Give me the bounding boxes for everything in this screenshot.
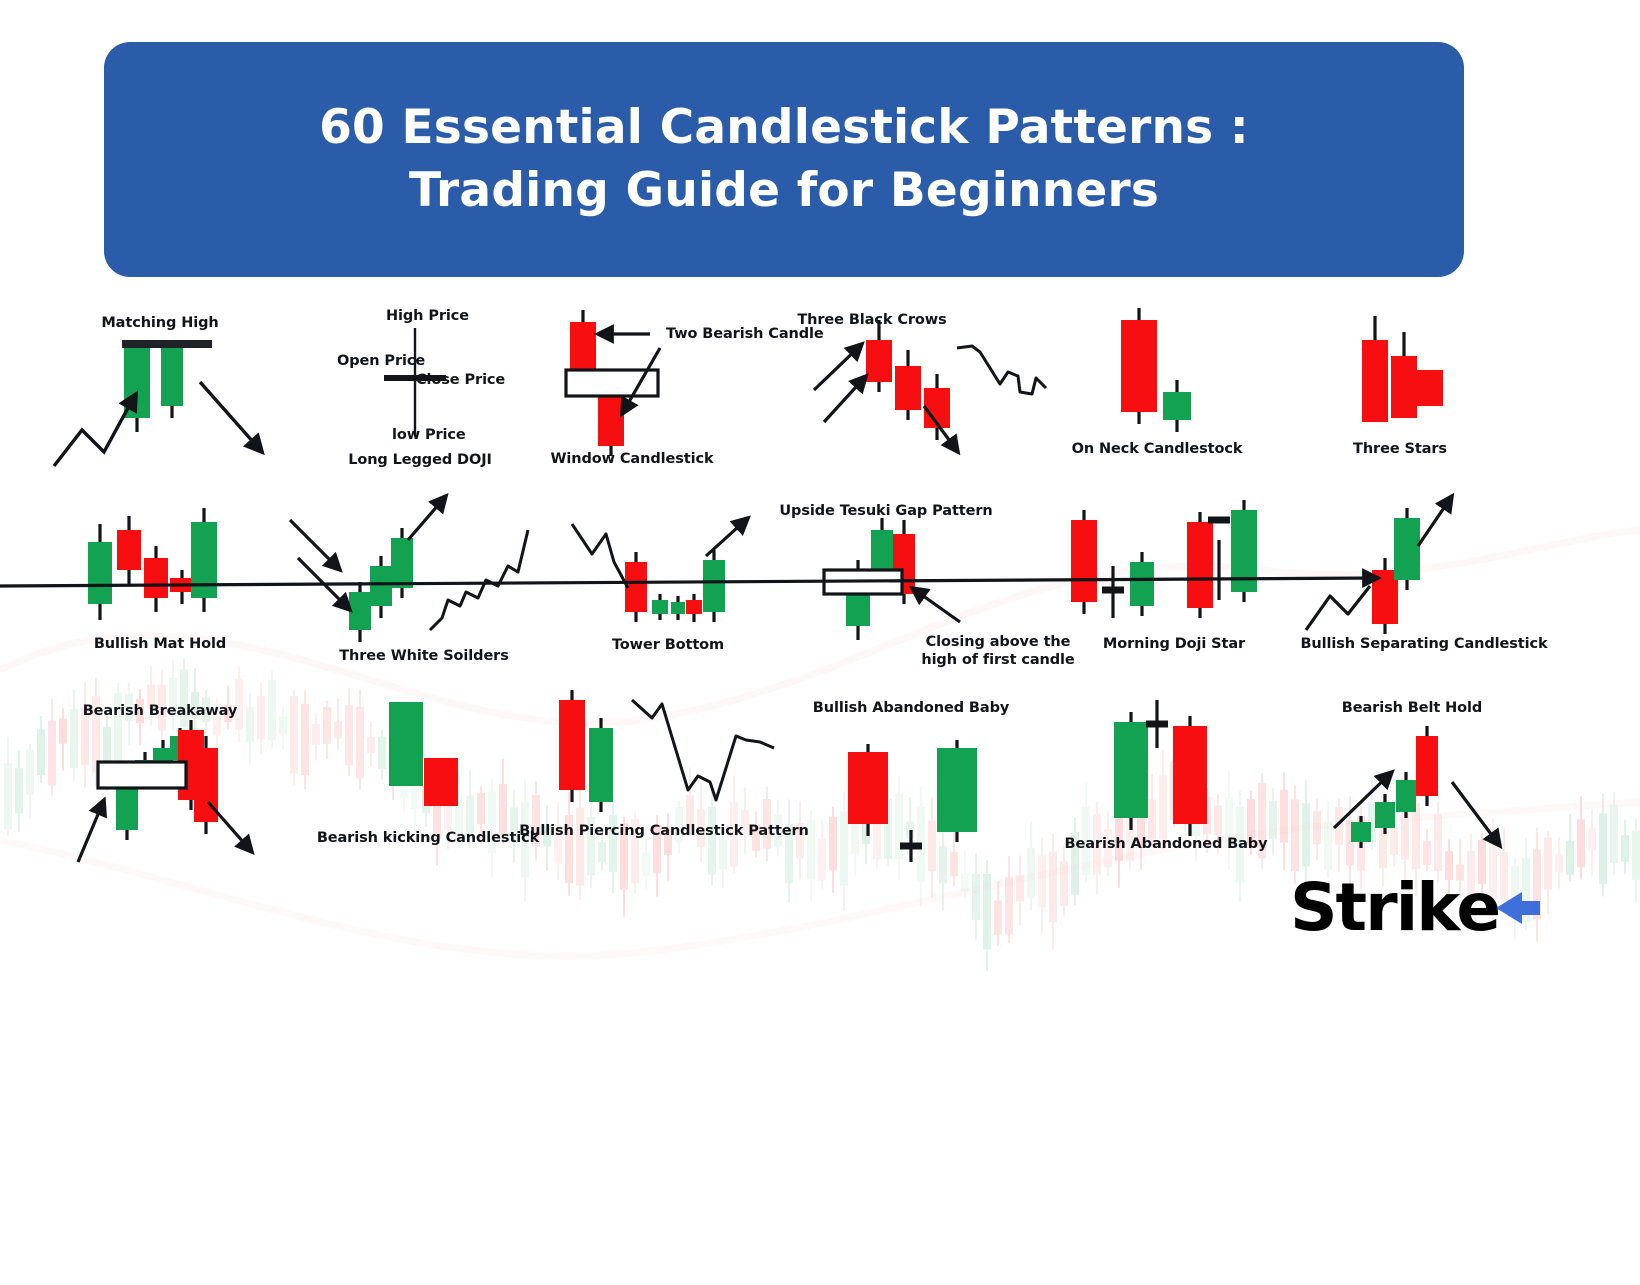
- closing-above-annotation: Closing above the high of first candle: [918, 633, 1078, 669]
- pattern-label-morning-doji-star: Morning Doji Star: [1103, 636, 1245, 652]
- closing-above-line-2: high of first candle: [921, 652, 1074, 668]
- candle-morning-3: [1130, 552, 1154, 616]
- candle-kicking-1: [389, 702, 423, 786]
- pattern-label-matching-high: Matching High: [101, 315, 218, 331]
- candle-kicking-2: [424, 758, 458, 806]
- candle-tower-2: [652, 594, 668, 620]
- candle-belthold-4: [1416, 726, 1438, 806]
- pattern-label-long-legged-doji: Long Legged DOJI: [348, 452, 492, 468]
- candle-crow-1: [866, 320, 892, 392]
- candle-crow-2: [895, 350, 921, 420]
- candle-bearbaby-doji: [1146, 700, 1168, 748]
- pattern-label-bearish-abandoned-baby: Bearish Abandoned Baby: [1065, 836, 1268, 852]
- bullish-piercing-graphic: [632, 700, 774, 800]
- bearish-breakaway-graphic: [78, 762, 252, 862]
- candle-window-1: [570, 310, 596, 378]
- pattern-label-bullish-mat-hold: Bullish Mat Hold: [94, 636, 226, 652]
- candle-bullsep-2: [1394, 508, 1420, 590]
- doji-open-price-label: Open Price: [337, 353, 425, 369]
- candle-three-stars-2: [1391, 332, 1417, 418]
- candle-soldier-1: [349, 582, 371, 642]
- strike-logo-text: Strike: [1290, 869, 1499, 946]
- candle-belthold-1: [1351, 816, 1371, 848]
- doji-high-price-label: High Price: [386, 308, 469, 324]
- candle-three-stars-1: [1362, 316, 1388, 422]
- candle-onneck-2: [1163, 380, 1191, 432]
- upside-tesuki-gap-graphic: [824, 570, 960, 622]
- pattern-label-three-white-soilders: Three White Soilders: [339, 648, 509, 664]
- pattern-label-bearish-belt-hold: Bearish Belt Hold: [1342, 700, 1482, 716]
- pattern-label-three-stars: Three Stars: [1353, 441, 1447, 457]
- candle-tower-5: [703, 550, 725, 622]
- candle-mathold-1: [88, 524, 112, 620]
- candle-morning-doji: [1102, 566, 1124, 618]
- candle-breakaway-6: [194, 736, 218, 834]
- pattern-label-on-neck-candlestock: On Neck Candlestock: [1072, 441, 1243, 457]
- doji-close-price-label: Close Price: [416, 372, 505, 388]
- matching-high-graphic: [54, 340, 262, 466]
- candle-tower-3: [671, 596, 685, 620]
- candle-separating-1: [1187, 512, 1213, 618]
- pattern-label-bullish-separating-candlestick: Bullish Separating Candlestick: [1300, 636, 1547, 652]
- closing-above-line-1: Closing above the: [926, 634, 1071, 650]
- doji-low-price-label: low Price: [392, 427, 466, 443]
- candle-bullbaby-1: [848, 744, 888, 836]
- candle-piercing-1: [559, 690, 585, 802]
- candle-mathold-3: [144, 546, 168, 612]
- pattern-label-tower-bottom: Tower Bottom: [612, 637, 724, 653]
- candle-bearbaby-1: [1114, 712, 1148, 830]
- candle-matching-high-1: [124, 346, 150, 432]
- candle-crow-3: [924, 374, 950, 440]
- candle-belthold-2: [1375, 794, 1395, 834]
- candle-piercing-2: [589, 718, 613, 812]
- pattern-label-bearish-breakaway: Bearish Breakaway: [83, 703, 238, 719]
- candle-mathold-2: [117, 516, 141, 584]
- infographic-canvas: 60 Essential Candlestick Patterns : Trad…: [0, 0, 1640, 1030]
- candle-bullbaby-3: [937, 740, 977, 842]
- candle-bearbaby-3: [1173, 716, 1207, 836]
- pattern-label-bearish-kicking-candlestick: Bearish kicking Candlestick: [317, 830, 539, 846]
- strike-logo-svg: Strike: [1290, 868, 1540, 948]
- candle-separating-2: [1231, 500, 1257, 602]
- candle-bullbaby-doji: [900, 830, 922, 862]
- pattern-label-bullish-piercing-candlestick: Bullish Piercing Candlestick Pattern: [519, 823, 809, 839]
- candle-three-stars-3: [1417, 370, 1443, 406]
- candle-morning-1: [1071, 510, 1097, 614]
- candle-belthold-3: [1396, 772, 1416, 818]
- candle-mathold-5: [191, 508, 217, 612]
- candle-tower-4: [686, 594, 702, 622]
- candle-matching-high-2: [161, 346, 183, 418]
- pattern-label-window-candlestick: Window Candlestick: [551, 451, 714, 467]
- candle-soldier-2: [370, 556, 392, 618]
- pattern-label-three-black-crows: Three Black Crows: [797, 312, 946, 328]
- candle-onneck-1: [1121, 308, 1157, 424]
- pattern-label-bullish-abandoned-baby: Bullish Abandoned Baby: [813, 700, 1009, 716]
- two-bearish-candle-annotation: Two Bearish Candle: [666, 326, 824, 342]
- strike-logo-arrow-accent: [1496, 892, 1540, 924]
- strike-logo: Strike: [1290, 868, 1540, 948]
- pattern-label-upside-tesuki-gap-pattern: Upside Tesuki Gap Pattern: [779, 503, 992, 519]
- candle-mathold-4: [170, 570, 194, 604]
